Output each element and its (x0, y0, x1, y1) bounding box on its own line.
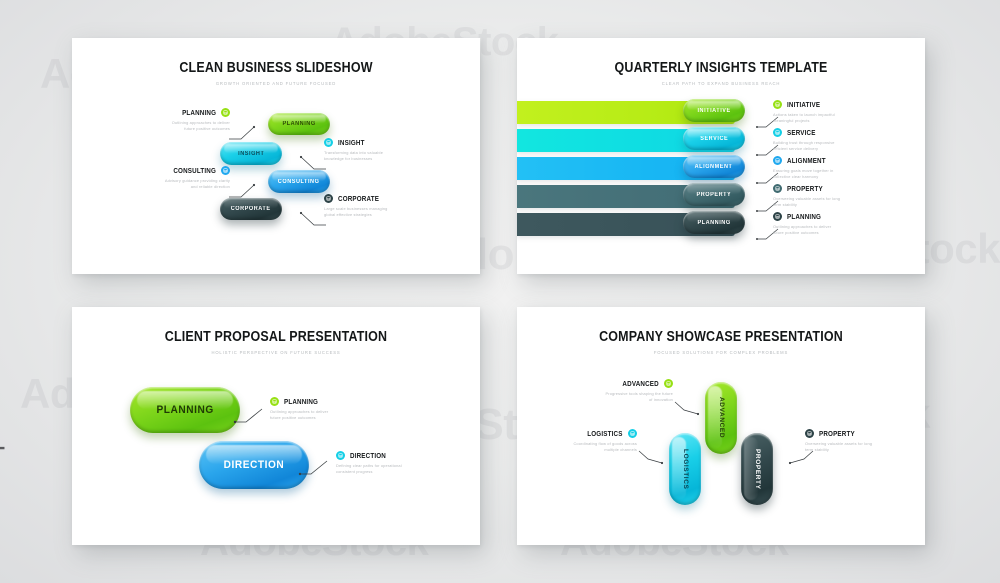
pill-label: SERVICE (700, 136, 728, 142)
info-header: 02 INSIGHT (324, 138, 444, 147)
info-advanced[interactable]: 01 ADVANCED Progressive tools shaping th… (569, 379, 673, 403)
info-title: PLANNING (182, 108, 216, 117)
slide2-title: QUARTERLY INSIGHTS TEMPLATE (546, 60, 897, 76)
pill-property[interactable]: PROPERTY (683, 183, 745, 206)
info-desc-line: meaningful projects (773, 118, 899, 124)
pill-direction[interactable]: DIRECTION (199, 441, 309, 489)
info-desc-line: term stability (805, 447, 915, 453)
info-corporate[interactable]: 04 CORPORATE Large scale businesses mana… (324, 194, 448, 218)
info-desc-line: consistent progress (336, 469, 466, 475)
slide-quarterly-insights-template[interactable]: QUARTERLY INSIGHTS TEMPLATE CLEAR PATH T… (517, 38, 925, 274)
info-desc-line: of innovation (569, 397, 673, 403)
info-title: CONSULTING (173, 166, 216, 175)
info-header: 05 PLANNING (773, 212, 899, 221)
connector-line (639, 449, 663, 465)
info-desc-line: future positive outcomes (270, 415, 400, 421)
info-header: 03 PROPERTY (805, 429, 915, 438)
info-title: PLANNING (787, 212, 821, 221)
slide1-title: CLEAN BUSINESS SLIDESHOW (101, 60, 452, 76)
info-desc: Outlining approaches to deliver future p… (112, 120, 230, 132)
slide4-title: COMPANY SHOWCASE PRESENTATION (546, 329, 897, 345)
info-title: INITIATIVE (787, 100, 820, 109)
slide-company-showcase-presentation[interactable]: COMPANY SHOWCASE PRESENTATION FOCUSED SO… (517, 307, 925, 545)
info-title: CORPORATE (338, 194, 379, 203)
info-desc: Coordinating flow of goods across multip… (533, 441, 637, 453)
info-desc-line: knowledge for businesses (324, 156, 444, 162)
info-desc: Outlining approaches to deliver future p… (270, 409, 400, 421)
info-desc-line: collective clear harmony (773, 174, 899, 180)
connector-line (675, 400, 699, 416)
pill-planning[interactable]: PLANNING (683, 211, 745, 234)
pill-label: CONSULTING (278, 179, 320, 185)
info-property[interactable]: 04 PROPERTY Overseeing valuable assets f… (773, 184, 899, 208)
connector-line (229, 184, 255, 198)
badge-icon: 01 (221, 108, 230, 117)
pill-label: PLANNING (156, 404, 213, 416)
connector-line (300, 212, 326, 226)
badge-icon: 02 (628, 429, 637, 438)
badge-icon: 02 (336, 451, 345, 460)
pill-initiative[interactable]: INITIATIVE (683, 99, 745, 122)
info-header: 01 PLANNING (270, 397, 400, 406)
info-desc: Progressive tools shaping the future of … (569, 391, 673, 403)
info-desc: Ensuring goals move together in collecti… (773, 168, 899, 180)
info-header: 02 SERVICE (773, 128, 899, 137)
pill-advanced[interactable]: ADVANCED (705, 382, 737, 454)
connector-line (229, 126, 255, 140)
pill-label: PROPERTY (697, 192, 732, 198)
info-desc-line: and reliable direction (106, 184, 230, 190)
pill-label: INSIGHT (238, 151, 264, 157)
pill-insight[interactable]: INSIGHT (220, 142, 282, 165)
info-header: 03 ALIGNMENT (773, 156, 899, 165)
info-desc: Outlining approaches to deliver future p… (773, 224, 899, 236)
slide3-subtitle: HOLISTIC PERSPECTIVE ON FUTURE SUCCESS (72, 350, 480, 355)
info-desc-line: efficient service delivery (773, 146, 899, 152)
pill-label: LOGISTICS (682, 449, 688, 489)
pill-label: PLANNING (282, 121, 315, 127)
badge-icon: 04 (773, 184, 782, 193)
info-title: ADVANCED (623, 379, 659, 388)
info-title: LOGISTICS (588, 429, 623, 438)
adobe-stock-id-watermark: Adobe Stock | #184811499 8 (0, 314, 6, 577)
info-header: 02 LOGISTICS (533, 429, 637, 438)
info-header: 01 PLANNING (112, 108, 230, 117)
pill-corporate[interactable]: CORPORATE (220, 198, 282, 220)
slide1-subtitle: GROWTH ORIENTED AND FUTURE FOCUSED (72, 81, 480, 86)
pill-label: DIRECTION (224, 459, 285, 471)
pill-label: PROPERTY (754, 449, 760, 490)
connector-line (300, 156, 326, 170)
slide4-subtitle: FOCUSED SOLUTIONS FOR COMPLEX PROBLEMS (517, 350, 925, 355)
info-title: PROPERTY (787, 184, 823, 193)
info-title: INSIGHT (338, 138, 365, 147)
info-desc-line: multiple channels (533, 447, 637, 453)
info-header: 01 INITIATIVE (773, 100, 899, 109)
badge-icon: 04 (324, 194, 333, 203)
slide2-subtitle: CLEAR PATH TO EXPAND BUSINESS REACH (517, 81, 925, 86)
info-property[interactable]: 03 PROPERTY Overseeing valuable assets f… (805, 429, 915, 453)
info-alignment[interactable]: 03 ALIGNMENT Ensuring goals move togethe… (773, 156, 899, 180)
info-insight[interactable]: 02 INSIGHT Transforming data into valuab… (324, 138, 444, 162)
info-title: PLANNING (284, 397, 318, 406)
info-header: 03 CONSULTING (106, 166, 230, 175)
badge-icon: 03 (773, 156, 782, 165)
info-title: PROPERTY (819, 429, 855, 438)
info-logistics[interactable]: 02 LOGISTICS Coordinating flow of goods … (533, 429, 637, 453)
pill-logistics[interactable]: LOGISTICS (669, 433, 701, 505)
info-desc-line: future positive outcomes (773, 230, 899, 236)
info-desc: Overseeing valuable assets for long term… (805, 441, 915, 453)
info-header: 02 DIRECTION (336, 451, 466, 460)
badge-icon: 03 (221, 166, 230, 175)
info-service[interactable]: 02 SERVICE Building trust through respon… (773, 128, 899, 152)
badge-icon: 05 (773, 212, 782, 221)
info-title: SERVICE (787, 128, 816, 137)
info-title: ALIGNMENT (787, 156, 826, 165)
slide-clean-business-slideshow[interactable]: CLEAN BUSINESS SLIDESHOW GROWTH ORIENTED… (72, 38, 480, 274)
info-desc: Defining clear paths for operational con… (336, 463, 466, 475)
pill-label: PLANNING (697, 220, 730, 226)
info-initiative[interactable]: 01 INITIATIVE Actions taken to launch im… (773, 100, 899, 124)
info-desc: Actions taken to launch impactful meanin… (773, 112, 899, 124)
info-desc-line: future positive outcomes (112, 126, 230, 132)
badge-icon: 02 (773, 128, 782, 137)
info-desc: Overseeing valuable assets for long term… (773, 196, 899, 208)
info-header: 01 ADVANCED (569, 379, 673, 388)
info-desc: Large scale businesses managing global e… (324, 206, 448, 218)
pill-planning[interactable]: PLANNING (268, 113, 330, 135)
info-desc: Advisory guidance providing clarity and … (106, 178, 230, 190)
pill-label: INITIATIVE (697, 108, 730, 114)
slide-client-proposal-presentation[interactable]: CLIENT PROPOSAL PRESENTATION HOLISTIC PE… (72, 307, 480, 545)
info-header: 04 PROPERTY (773, 184, 899, 193)
pill-label: ADVANCED (718, 397, 724, 438)
info-planning[interactable]: 01 PLANNING Outlining approaches to deli… (112, 108, 230, 132)
info-title: DIRECTION (350, 451, 386, 460)
pill-label: CORPORATE (231, 206, 271, 212)
slide3-title: CLIENT PROPOSAL PRESENTATION (101, 329, 452, 345)
badge-icon: 01 (270, 397, 279, 406)
pill-alignment[interactable]: ALIGNMENT (683, 155, 745, 178)
pill-planning[interactable]: PLANNING (130, 387, 240, 433)
pill-service[interactable]: SERVICE (683, 127, 745, 150)
badge-icon: 02 (324, 138, 333, 147)
pill-property[interactable]: PROPERTY (741, 433, 773, 505)
badge-icon: 01 (664, 379, 673, 388)
pill-consulting[interactable]: CONSULTING (268, 170, 330, 193)
info-desc: Building trust through responsive effici… (773, 140, 899, 152)
info-desc-line: term stability (773, 202, 899, 208)
info-consulting[interactable]: 03 CONSULTING Advisory guidance providin… (106, 166, 230, 190)
badge-icon: 03 (805, 429, 814, 438)
info-header: 04 CORPORATE (324, 194, 448, 203)
info-desc-line: global effective strategies (324, 212, 448, 218)
info-desc: Transforming data into valuable knowledg… (324, 150, 444, 162)
badge-icon: 01 (773, 100, 782, 109)
info-planning[interactable]: 05 PLANNING Outlining approaches to deli… (773, 212, 899, 236)
info-direction[interactable]: 02 DIRECTION Defining clear paths for op… (336, 451, 466, 475)
info-planning[interactable]: 01 PLANNING Outlining approaches to deli… (270, 397, 400, 421)
pill-label: ALIGNMENT (695, 164, 733, 170)
